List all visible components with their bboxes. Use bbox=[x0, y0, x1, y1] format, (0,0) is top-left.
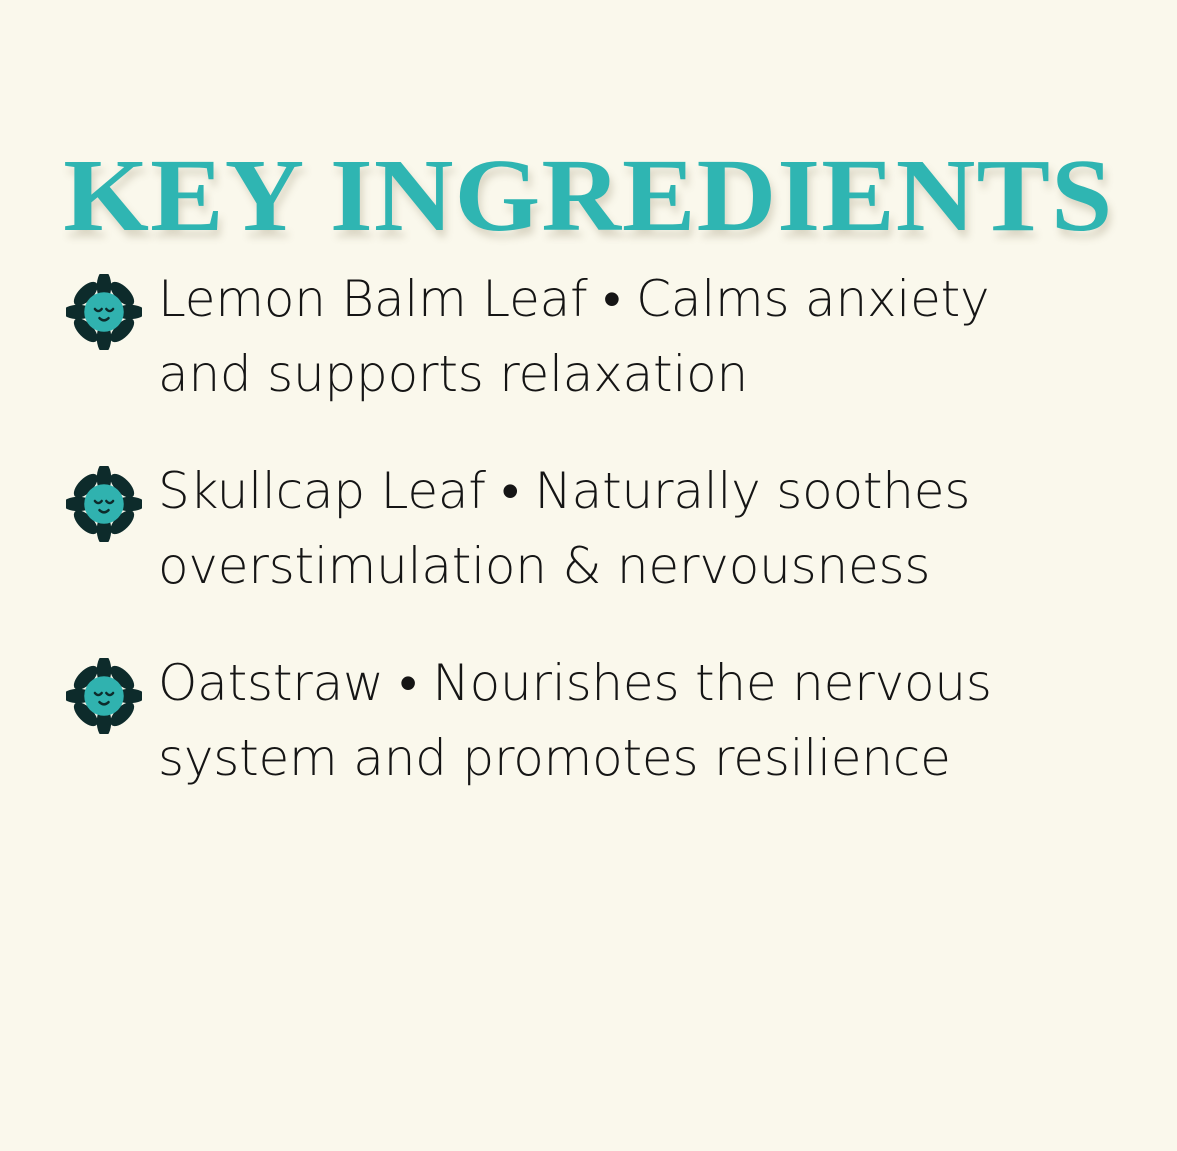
list-item-text-cell: Skullcap Leaf • Naturally soothes overst… bbox=[158, 454, 1126, 604]
flower-smiling-icon bbox=[66, 658, 142, 734]
list-item: Oatstraw • Nourishes the nervous system … bbox=[66, 646, 1126, 796]
list-item-icon-cell bbox=[66, 646, 158, 734]
key-ingredients-panel: KEY INGREDIENTS bbox=[0, 0, 1177, 1151]
list-item-icon-cell bbox=[66, 454, 158, 542]
page-title: KEY INGREDIENTS bbox=[63, 144, 1113, 248]
list-item: Lemon Balm Leaf • Calms anxiety and supp… bbox=[66, 262, 1126, 412]
ingredients-list: Lemon Balm Leaf • Calms anxiety and supp… bbox=[66, 262, 1126, 796]
list-item-text-cell: Oatstraw • Nourishes the nervous system … bbox=[158, 646, 1126, 796]
flower-smiling-icon bbox=[66, 274, 142, 350]
list-item-text-cell: Lemon Balm Leaf • Calms anxiety and supp… bbox=[158, 262, 1126, 412]
list-item-label: Oatstraw • Nourishes the nervous system … bbox=[158, 646, 1063, 796]
list-item-label: Skullcap Leaf • Naturally soothes overst… bbox=[158, 454, 1063, 604]
list-item-label: Lemon Balm Leaf • Calms anxiety and supp… bbox=[158, 262, 1063, 412]
list-item: Skullcap Leaf • Naturally soothes overst… bbox=[66, 454, 1126, 604]
list-item-icon-cell bbox=[66, 262, 158, 350]
flower-smiling-icon bbox=[66, 466, 142, 542]
